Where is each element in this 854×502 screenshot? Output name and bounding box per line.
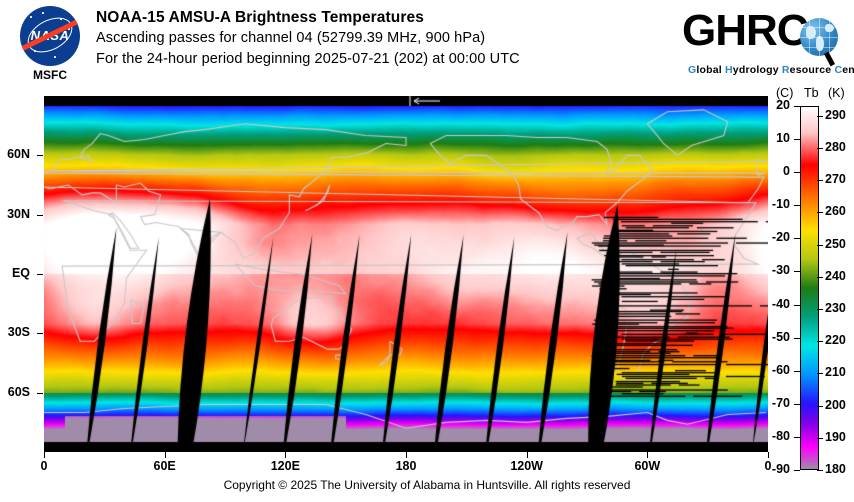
- tagline-part-4: R: [782, 64, 790, 76]
- x-tick: [527, 452, 528, 458]
- colorbar-label-celsius: -20: [756, 230, 790, 244]
- colorbar-label-celsius: 20: [756, 98, 790, 112]
- y-tick: [37, 215, 43, 216]
- tagline-part-7: enter: [842, 64, 854, 76]
- x-tick: [647, 452, 648, 458]
- colorbar-tick-celsius: [794, 172, 800, 173]
- colorbar-tick-celsius: [794, 437, 800, 438]
- colorbar-label-celsius: 10: [756, 131, 790, 145]
- colorbar-tick-kelvin: [817, 341, 823, 342]
- colorbar-tick-celsius: [794, 371, 800, 372]
- colorbar-label-kelvin: 180: [825, 462, 854, 476]
- colorbar-label-kelvin: 260: [825, 204, 854, 218]
- colorbar-label-kelvin: 270: [825, 172, 854, 186]
- colorbar-tick-kelvin: [817, 212, 823, 213]
- colorbar-label-celsius: -90: [756, 462, 790, 476]
- nasa-center-label: MSFC: [14, 68, 86, 82]
- colorbar-tick-kelvin: [817, 148, 823, 149]
- colorbar-label-kelvin: 190: [825, 430, 854, 444]
- globe-icon: [800, 18, 838, 56]
- colorbar-tick-celsius: [794, 271, 800, 272]
- colorbar-label-kelvin: 210: [825, 365, 854, 379]
- map-raster: [44, 96, 768, 452]
- colorbar-gradient: [801, 107, 818, 469]
- ghrc-logo: GHRC Global Hydrology Resource Center: [682, 8, 848, 80]
- y-tick: [37, 333, 43, 334]
- colorbar-tick-kelvin: [817, 309, 823, 310]
- page-subtitle-period: For the 24-hour period beginning 2025-07…: [96, 49, 676, 70]
- colorbar-tick-kelvin: [817, 470, 823, 471]
- colorbar-label-celsius: -10: [756, 197, 790, 211]
- colorbar-tick-kelvin: [817, 373, 823, 374]
- colorbar-label-celsius: -50: [756, 330, 790, 344]
- colorbar-label-celsius: -40: [756, 297, 790, 311]
- x-tick: [406, 452, 407, 458]
- page-title: NOAA-15 AMSU-A Brightness Temperatures: [96, 8, 676, 28]
- colorbar-tick-celsius: [794, 404, 800, 405]
- x-tick: [165, 452, 166, 458]
- x-tick: [285, 452, 286, 458]
- nasa-meatball-icon: NASA: [20, 6, 80, 66]
- title-block: NOAA-15 AMSU-A Brightness Temperatures A…: [96, 8, 676, 70]
- colorbar-tick-celsius: [794, 139, 800, 140]
- tagline-part-5: esource: [790, 64, 835, 76]
- colorbar-label-kelvin: 290: [825, 108, 854, 122]
- colorbar-tick-celsius: [794, 238, 800, 239]
- colorbar-tick-kelvin: [817, 180, 823, 181]
- colorbar-label-kelvin: 250: [825, 237, 854, 251]
- x-tick: [44, 452, 45, 458]
- colorbar-label-kelvin: 200: [825, 398, 854, 412]
- ghrc-tagline: Global Hydrology Resource Center: [688, 64, 854, 76]
- colorbar-label-kelvin: 220: [825, 333, 854, 347]
- x-axis-label: 180: [376, 459, 436, 473]
- y-tick: [37, 274, 43, 275]
- colorbar-tick-celsius: [794, 305, 800, 306]
- colorbar-tick-celsius: [794, 470, 800, 471]
- colorbar-tick-celsius: [794, 205, 800, 206]
- nasa-logo: NASA MSFC: [14, 6, 86, 84]
- colorbar: [800, 106, 819, 470]
- colorbar-tick-kelvin: [817, 245, 823, 246]
- colorbar-label-kelvin: 230: [825, 301, 854, 315]
- colorbar-label-kelvin: 280: [825, 140, 854, 154]
- x-axis-label: 60W: [617, 459, 677, 473]
- y-axis-label: 60N: [0, 147, 30, 161]
- tagline-part-3: ydrology: [733, 64, 782, 76]
- copyright-notice: Copyright © 2025 The University of Alaba…: [0, 478, 854, 492]
- x-axis-label: 60E: [135, 459, 195, 473]
- colorbar-label-celsius: 0: [756, 164, 790, 178]
- colorbar-unit-kelvin: (K): [828, 86, 845, 100]
- ghrc-wordmark: GHRC: [682, 6, 808, 56]
- colorbar-tick-kelvin: [817, 116, 823, 117]
- colorbar-label-kelvin: 240: [825, 269, 854, 283]
- colorbar-tick-celsius: [794, 106, 800, 107]
- y-tick: [37, 393, 43, 394]
- colorbar-label-celsius: -70: [756, 396, 790, 410]
- colorbar-tick-kelvin: [817, 277, 823, 278]
- header-banner: NASA MSFC NOAA-15 AMSU-A Brightness Temp…: [0, 0, 854, 88]
- colorbar-tick-celsius: [794, 338, 800, 339]
- tagline-part-2: H: [725, 64, 733, 76]
- colorbar-label-celsius: -80: [756, 429, 790, 443]
- y-axis-label: EQ: [0, 266, 30, 280]
- x-axis-label: 120E: [255, 459, 315, 473]
- colorbar-label-celsius: -30: [756, 263, 790, 277]
- y-tick: [37, 155, 43, 156]
- brightness-temperature-map: [44, 96, 768, 452]
- x-tick: [768, 452, 769, 458]
- colorbar-tick-kelvin: [817, 438, 823, 439]
- y-axis-label: 60S: [0, 385, 30, 399]
- y-axis-label: 30N: [0, 207, 30, 221]
- x-axis-label: 0: [14, 459, 74, 473]
- colorbar-tick-kelvin: [817, 406, 823, 407]
- colorbar-variable-label: Tb: [804, 86, 819, 100]
- colorbar-label-celsius: -60: [756, 363, 790, 377]
- page-subtitle-channel: Ascending passes for channel 04 (52799.3…: [96, 28, 676, 49]
- tagline-part-1: lobal: [696, 64, 725, 76]
- y-axis-label: 30S: [0, 325, 30, 339]
- x-axis-label: 120W: [497, 459, 557, 473]
